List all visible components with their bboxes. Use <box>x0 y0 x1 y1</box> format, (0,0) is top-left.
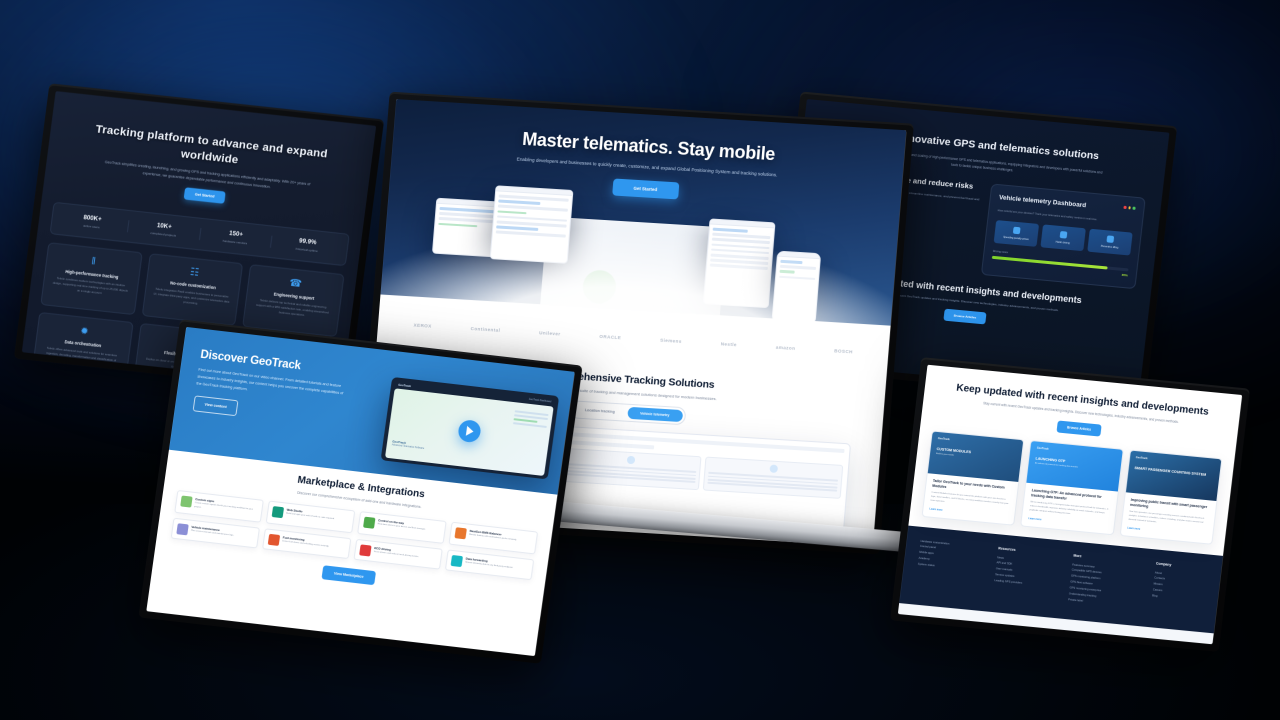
marketplace-tile[interactable]: Custom signs Create custom signals that … <box>174 490 264 522</box>
mock-row <box>712 238 770 244</box>
mock-rows <box>776 257 820 286</box>
tile-text: NextGen BMS Balancer Monitor battery cel… <box>468 529 517 547</box>
tile-text: Vehicle maintenance Plan service interva… <box>190 525 235 541</box>
scene-background: Tracking platform to advance and expand … <box>0 0 1280 720</box>
client-logo: XEROX <box>413 322 431 328</box>
marketplace-tile[interactable]: ECO driving Score drivers and reduce har… <box>353 539 442 570</box>
article-kicker: SMART PASSENGER COUNTING SYSTEM <box>1134 466 1214 478</box>
panel-line <box>513 422 547 428</box>
client-logo: Continental <box>470 326 500 333</box>
view-marketplace-button[interactable]: View Marketplace <box>321 565 377 585</box>
status-dot-green <box>1133 207 1136 210</box>
vehicle-telemetry-dashboard-card: Vehicle telemetry Dashboard How colorful… <box>981 184 1146 289</box>
status-dot-red <box>1124 206 1127 209</box>
dashboard-tile <box>702 457 843 499</box>
client-logo: ORACLE <box>599 333 621 339</box>
video-caption: GeoTrack Advanced Telematics Software <box>392 439 425 450</box>
mock-row <box>711 243 769 249</box>
mock-row <box>713 228 748 233</box>
footer-heading: Company <box>1156 561 1208 570</box>
tile-text: ECO driving Score drivers and reduce har… <box>373 546 420 562</box>
tile-icon <box>176 523 188 535</box>
article-body: Improving public transit with smart pass… <box>1120 492 1216 543</box>
footer-heading: Resources <box>998 546 1060 556</box>
laptop-header-right: GeoTrack Dashboard <box>529 398 552 404</box>
brand-label: GeoTrack <box>398 382 411 387</box>
mock-rows <box>492 191 572 243</box>
stat-item: 800K+ active users <box>56 212 129 232</box>
client-logo: Siemens <box>660 337 682 343</box>
brand-label: GeoTrack <box>938 437 1017 448</box>
metric-tiles: Speeding penalty prices Harsh driving Pr… <box>994 220 1133 256</box>
feature-card[interactable]: ‖ High-performance tracking Teletic comb… <box>40 242 142 315</box>
mock-row <box>497 220 567 227</box>
monitor-bezel: Discover GeoTrack Find out more about Ge… <box>138 319 582 664</box>
toggle-vehicle-telemetry[interactable]: Vehicle telemetry <box>627 407 683 422</box>
mock-row <box>498 200 540 205</box>
page-discover-geotrack: Discover GeoTrack Find out more about Ge… <box>146 327 574 656</box>
monitor-bezel: Keep updated with recent insights and de… <box>890 357 1250 652</box>
mock-row <box>438 222 477 227</box>
metric-label: Harsh driving <box>1044 239 1081 246</box>
gauge-icon <box>1013 226 1021 234</box>
mock-row <box>497 210 527 214</box>
metric-label: Preventive idling <box>1091 244 1128 251</box>
mock-row <box>779 275 815 280</box>
monitor-keep-updated[interactable]: Keep updated with recent insights and de… <box>890 357 1250 652</box>
monitor-discover-geotrack[interactable]: Discover GeoTrack Find out more about Ge… <box>138 319 582 664</box>
client-logo: Nestle <box>721 341 738 347</box>
dashboard-tile <box>560 448 701 490</box>
tile-icon <box>272 507 284 519</box>
alert-icon <box>1060 231 1068 239</box>
mock-row <box>780 260 802 264</box>
tile-icon <box>268 534 280 546</box>
tile-text: Web Studio Build and style your web UI w… <box>285 508 335 526</box>
footer-column-more: More Features summary Compatible GPS dev… <box>1068 553 1143 610</box>
article-body: Launching GTP: An advanced protocol for … <box>1022 483 1118 534</box>
mock-row <box>710 264 768 270</box>
get-started-button[interactable]: Get Started <box>184 187 226 203</box>
tile-text: Control on the way Real-time alerts to y… <box>377 519 427 537</box>
mock-row <box>712 233 770 239</box>
tile-icon <box>451 555 463 567</box>
stat-item: 99.9% historical uptime <box>271 236 343 256</box>
mock-row <box>779 270 794 274</box>
stat-item: 150+ hardware vendors <box>199 228 272 248</box>
mock-row <box>780 265 816 270</box>
article-card[interactable]: GeoTrack SMART PASSENGER COUNTING SYSTEM… <box>1119 449 1222 544</box>
brand-label: GeoTrack <box>1037 447 1116 458</box>
panel-mockup-c <box>703 218 776 308</box>
mock-titlebar <box>778 252 820 260</box>
view-content-button[interactable]: View content <box>193 395 239 416</box>
mock-row <box>496 231 566 238</box>
hero-section: Master telematics. Stay mobile Enabling … <box>380 99 906 326</box>
page-keep-updated: Keep updated with recent insights and de… <box>898 365 1242 645</box>
tile-icon <box>454 528 466 540</box>
tile-text: Fuel monitoring Detect fuel drains and r… <box>282 535 330 551</box>
tile-text: Custom signs Create custom signals that … <box>194 498 258 518</box>
panel-mockup-b <box>490 185 574 264</box>
feature-card[interactable]: ☷ No-code customization Teletic integrat… <box>141 253 243 326</box>
article-hero: GeoTrack CUSTOM MODULES Build to your ne… <box>928 431 1024 481</box>
client-logo: Unilever <box>539 330 561 336</box>
article-hero: GeoTrack LAUNCHING GTP An advanced proto… <box>1027 441 1123 491</box>
article-body: Tailor GeoTrack to your needs with Custo… <box>923 473 1019 524</box>
status-dot-yellow <box>1128 206 1131 209</box>
metric-tile[interactable]: Harsh driving <box>1041 224 1086 251</box>
marketplace-tile[interactable]: Control on the way Real-time alerts to y… <box>357 512 447 544</box>
article-card[interactable]: GeoTrack CUSTOM MODULES Build to your ne… <box>922 430 1025 525</box>
mock-row <box>711 248 769 254</box>
tile-icon <box>359 544 371 556</box>
browse-articles-button[interactable]: Browse Articles <box>1056 420 1101 436</box>
monitor-screen: Keep updated with recent insights and de… <box>898 365 1242 645</box>
stat-item: 10K+ completed projects <box>128 220 201 240</box>
metric-label: Speeding penalty prices <box>997 235 1034 242</box>
brand-label: GeoTrack <box>1136 456 1215 467</box>
map-side-panel <box>513 410 549 430</box>
toggle-location-tracking[interactable]: Location tracking <box>572 404 628 419</box>
feature-card[interactable]: ☎ Engineering support Teletic delivers t… <box>242 264 344 337</box>
phone-mockup <box>771 251 821 325</box>
mock-row <box>711 253 769 259</box>
article-card[interactable]: GeoTrack LAUNCHING GTP An advanced proto… <box>1020 440 1123 535</box>
metric-tile[interactable]: Speeding penalty prices <box>994 220 1039 247</box>
client-logo: BOSCH <box>834 348 853 354</box>
footer-column-partial: Hardware customization Control panel Mob… <box>915 538 985 594</box>
tile-icon <box>363 517 375 529</box>
mock-row <box>710 259 768 265</box>
play-icon[interactable] <box>457 419 482 443</box>
article-hero: GeoTrack SMART PASSENGER COUNTING SYSTEM <box>1126 450 1222 500</box>
video-caption-sub: Advanced Telematics Software <box>392 443 425 450</box>
tile-icon <box>627 456 636 464</box>
clock-icon <box>1106 235 1114 243</box>
footer-column-company: Company About Contacts Mission Careers B… <box>1150 561 1207 616</box>
marketplace-tile[interactable]: Web Studio Build and style your web UI w… <box>266 501 356 533</box>
tile-text: Data forwarding Stream telemetry data to… <box>464 556 513 572</box>
footer-heading: More <box>1073 553 1142 564</box>
tile-icon <box>180 496 192 508</box>
marketplace-tile[interactable]: Vehicle maintenance Plan service interva… <box>171 518 260 549</box>
mock-row <box>496 226 538 231</box>
metric-tile[interactable]: Preventive idling <box>1087 228 1132 255</box>
marketplace-tile[interactable]: Fuel monitoring Detect fuel drains and r… <box>262 528 351 559</box>
footer-column-resources: Resources News API and SDK User manuals … <box>993 546 1060 602</box>
laptop-mockup: GeoTrack GeoTrack Dashboard GeoTrack Adv… <box>381 377 560 479</box>
browse-articles-button[interactable]: Browse Articles <box>943 309 987 325</box>
marketplace-tile[interactable]: Data forwarding Stream telemetry data to… <box>445 549 534 580</box>
monitor-screen: Discover GeoTrack Find out more about Ge… <box>146 327 574 656</box>
client-logo: amazon <box>776 344 796 350</box>
marketplace-tile[interactable]: NextGen BMS Balancer Monitor battery cel… <box>448 522 538 554</box>
tile-icon <box>769 465 778 473</box>
telemetry-panel-wrap: Vehicle telemetry Dashboard How colorful… <box>981 184 1146 289</box>
mock-rows <box>706 224 774 275</box>
solution-toggle[interactable]: Location tracking Vehicle telemetry <box>569 400 686 425</box>
